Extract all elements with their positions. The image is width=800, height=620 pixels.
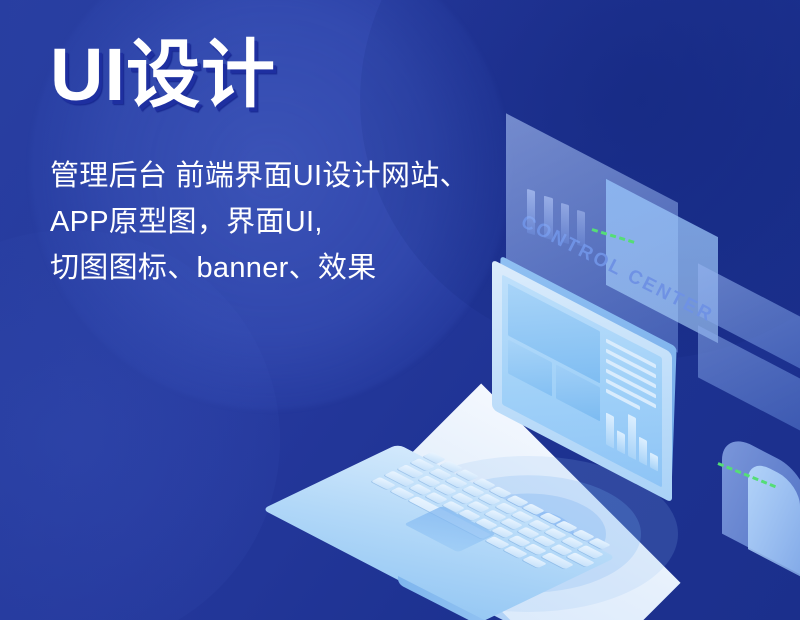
slanted-bar-1	[527, 189, 535, 235]
slanted-bar-4	[577, 210, 585, 247]
screen-bar-chart	[606, 402, 658, 471]
screen-chart-bar	[639, 437, 647, 466]
banner-subtitle: 管理后台 前端界面UI设计网站、 APP原型图，界面UI, 切图图标、banne…	[50, 154, 469, 291]
screen-chart-bar	[606, 412, 614, 448]
isometric-laptop	[380, 300, 700, 600]
screen-chart-bar	[628, 414, 636, 460]
banner-text-block: UI设计 管理后台 前端界面UI设计网站、 APP原型图，界面UI, 切图图标、…	[50, 38, 469, 291]
subtitle-line-3: 切图图标、banner、效果	[50, 246, 469, 292]
keyboard-key	[485, 536, 510, 549]
screen-chart-bar	[617, 430, 625, 454]
ui-design-banner: CONTROL CENTER	[0, 0, 800, 620]
subtitle-line-2: APP原型图，界面UI,	[50, 200, 469, 246]
slanted-bar-3	[561, 203, 569, 244]
page-title: UI设计	[50, 38, 469, 112]
slanted-bar-2	[544, 196, 553, 241]
screen-chart-bar	[650, 453, 658, 472]
subtitle-line-1: 管理后台 前端界面UI设计网站、	[50, 154, 469, 200]
